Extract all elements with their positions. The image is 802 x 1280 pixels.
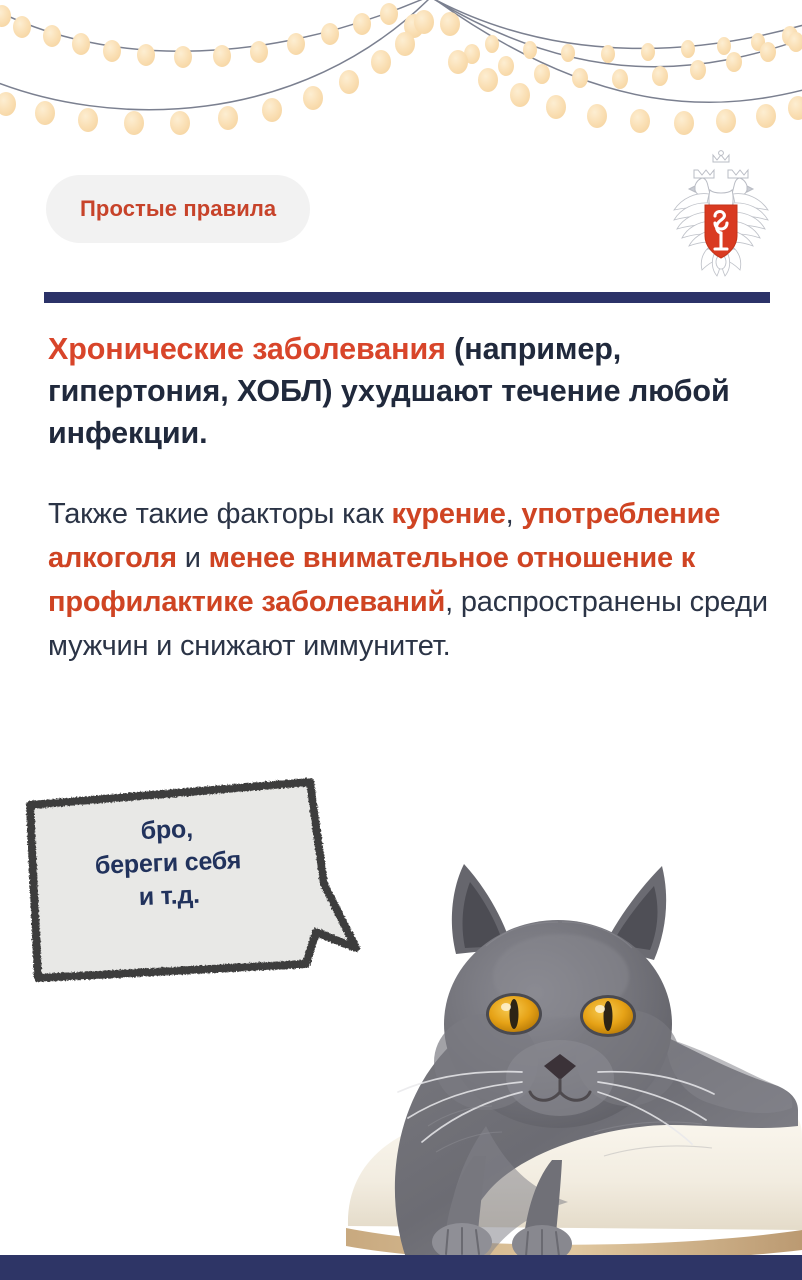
- navy-divider: [44, 292, 770, 303]
- cat-illustration: [336, 826, 802, 1258]
- body-paragraph: Также такие факторы как курение, употреб…: [48, 492, 788, 668]
- string-lights-garland: [0, 0, 802, 155]
- header-row: Простые правила: [0, 172, 802, 292]
- speech-bubble-text: бро, береги себя и т.д.: [16, 808, 320, 918]
- page-title: Хронические заболевания (например, гипер…: [48, 328, 774, 454]
- body-seg-4: и: [177, 542, 209, 574]
- footer-bar: [0, 1255, 802, 1280]
- speech-bubble: бро, береги себя и т.д.: [18, 772, 370, 1002]
- simple-rules-badge[interactable]: Простые правила: [46, 175, 310, 243]
- heading-highlight: Хронические заболевания: [48, 332, 446, 366]
- ministry-of-health-emblem: [662, 150, 780, 280]
- body-seg-1: курение: [391, 498, 505, 530]
- body-seg-2: ,: [506, 498, 522, 530]
- poster-canvas: Простые правила: [0, 0, 802, 1280]
- cat-eye-left: [486, 993, 542, 1035]
- grey-cat-photo: [336, 826, 802, 1258]
- cat-eye-right: [580, 995, 636, 1037]
- body-seg-0: Также такие факторы как: [48, 498, 391, 530]
